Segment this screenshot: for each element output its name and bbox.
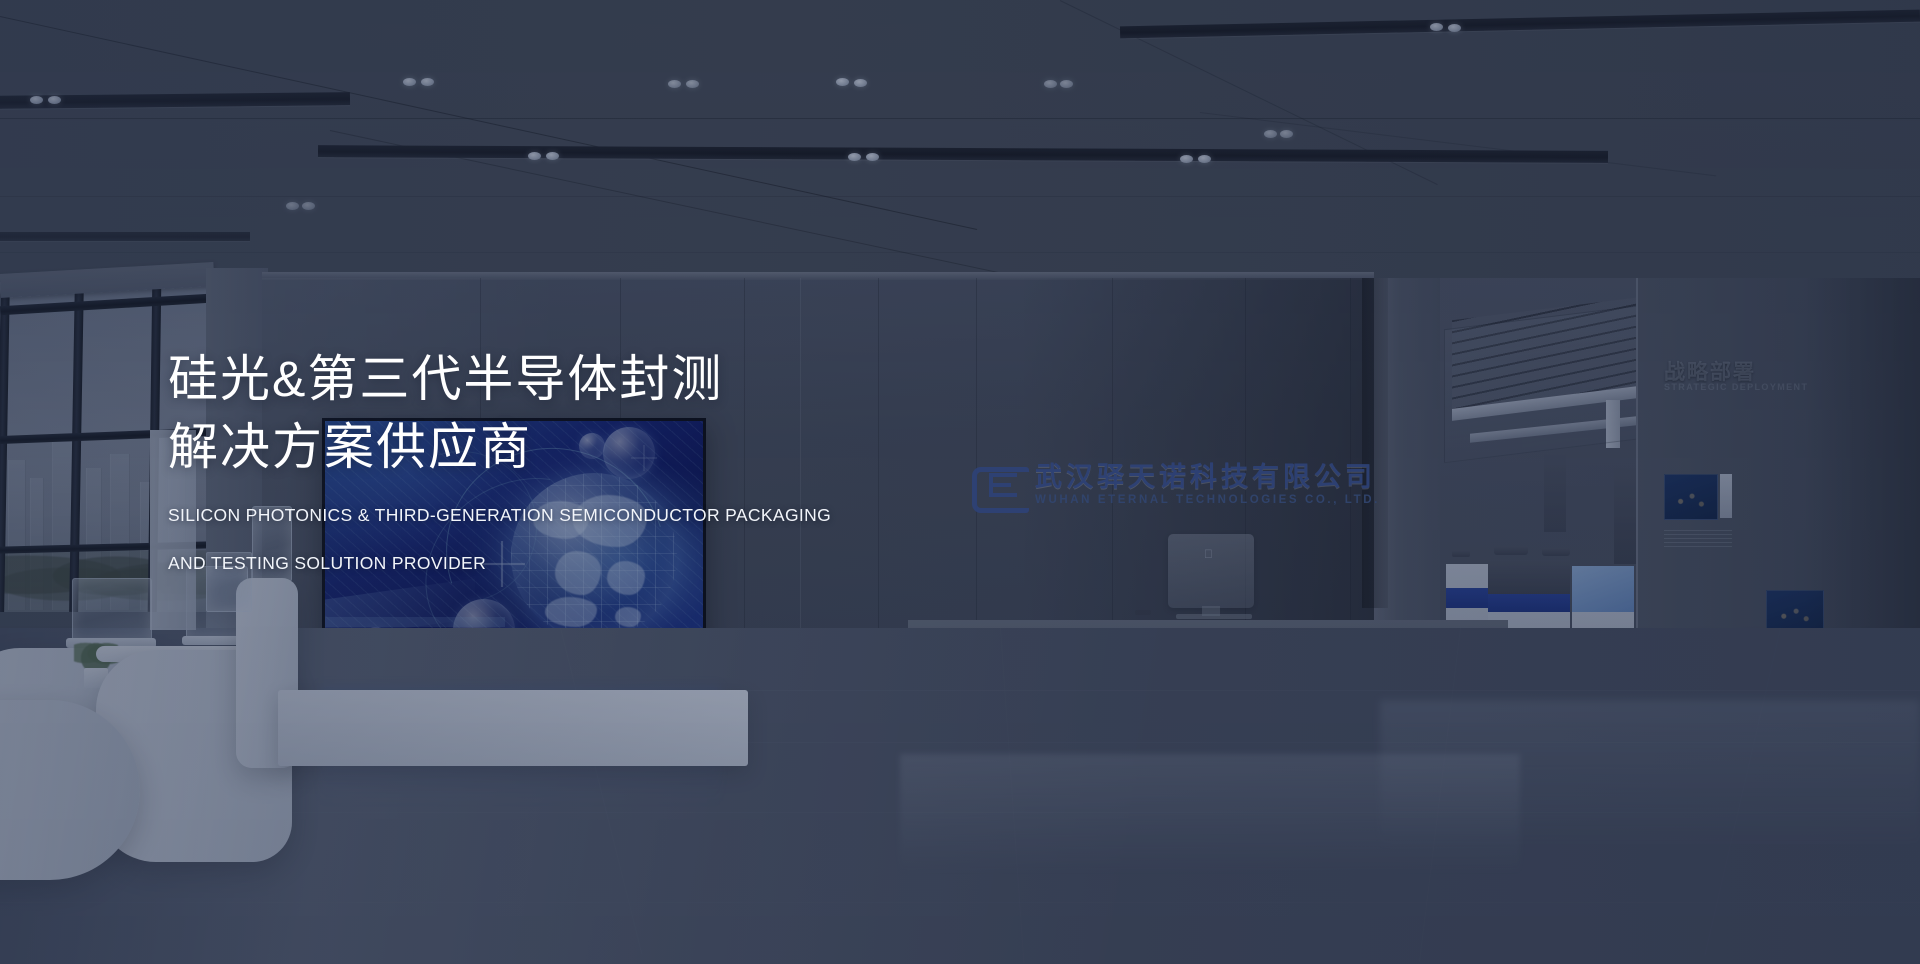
ceiling-downlight (866, 153, 879, 161)
ceiling-downlight (302, 202, 315, 210)
ceiling-downlight (1280, 130, 1293, 138)
ceiling-downlight (848, 153, 861, 161)
ceiling-downlight (836, 78, 849, 86)
wall-seam (1350, 278, 1351, 630)
ceiling-grid-line (0, 196, 1920, 197)
exhibit-caption (1664, 530, 1732, 548)
imac-monitor:  (1168, 534, 1254, 608)
ceiling-downlight (1180, 155, 1193, 163)
exhibition-section-title-en: STRATEGIC DEPLOYMENT (1664, 382, 1808, 392)
imac-foot (1176, 614, 1252, 619)
wall-plinth (278, 690, 748, 766)
hero-subtitle-line2: AND TESTING SOLUTION PROVIDER (168, 539, 1068, 587)
ceiling-grid-line (0, 118, 1920, 119)
hero-headline-line1: 硅光&第三代半导体封测 (168, 345, 1068, 413)
ceiling-downlight (1198, 155, 1211, 163)
ceiling-downlight (668, 80, 681, 88)
company-name-cn: 武汉驿天诺科技有限公司 (1035, 462, 1380, 492)
floor-tile-line (0, 902, 1920, 903)
hero-headline-line2: 解决方案供应商 (168, 413, 1068, 481)
wall-seam (1112, 278, 1113, 630)
desk-item (1135, 610, 1151, 615)
hero-banner: 战略部署 STRATEGIC DEPLOYMENT  (0, 0, 1920, 964)
exhibit-photo (1664, 474, 1718, 520)
apple-logo-icon:  (1204, 548, 1213, 560)
ceiling-downlight (1264, 130, 1277, 138)
doorway-shadow (1362, 278, 1388, 608)
company-name-en: WUHAN ETERNAL TECHNOLOGIES CO., LTD. (1035, 494, 1380, 507)
ceiling-downlight (30, 96, 43, 104)
ceiling-downlight (854, 79, 867, 87)
ceiling-downlight (48, 96, 61, 104)
ceiling-downlight (1060, 80, 1073, 88)
ceiling-downlight (686, 80, 699, 88)
ceiling-grid-line (0, 252, 1920, 253)
display-vitrine (72, 578, 152, 642)
ceiling-downlight (421, 78, 434, 86)
ceiling-downlight (403, 78, 416, 86)
ceiling-downlight (1448, 24, 1461, 32)
hero-subtitle-line1: SILICON PHOTONICS & THIRD-GENERATION SEM… (168, 491, 1068, 539)
exhibition-reflection (1380, 700, 1920, 850)
hero-text-block: 硅光&第三代半导体封测 解决方案供应商 SILICON PHOTONICS & … (168, 345, 1068, 587)
ceiling-downlight (1044, 80, 1057, 88)
ceiling-light-slot (0, 232, 250, 241)
ceiling-downlight (1430, 23, 1443, 31)
ceiling-downlight (286, 202, 299, 210)
ceiling-downlight (546, 152, 559, 160)
ceiling-downlight (528, 152, 541, 160)
